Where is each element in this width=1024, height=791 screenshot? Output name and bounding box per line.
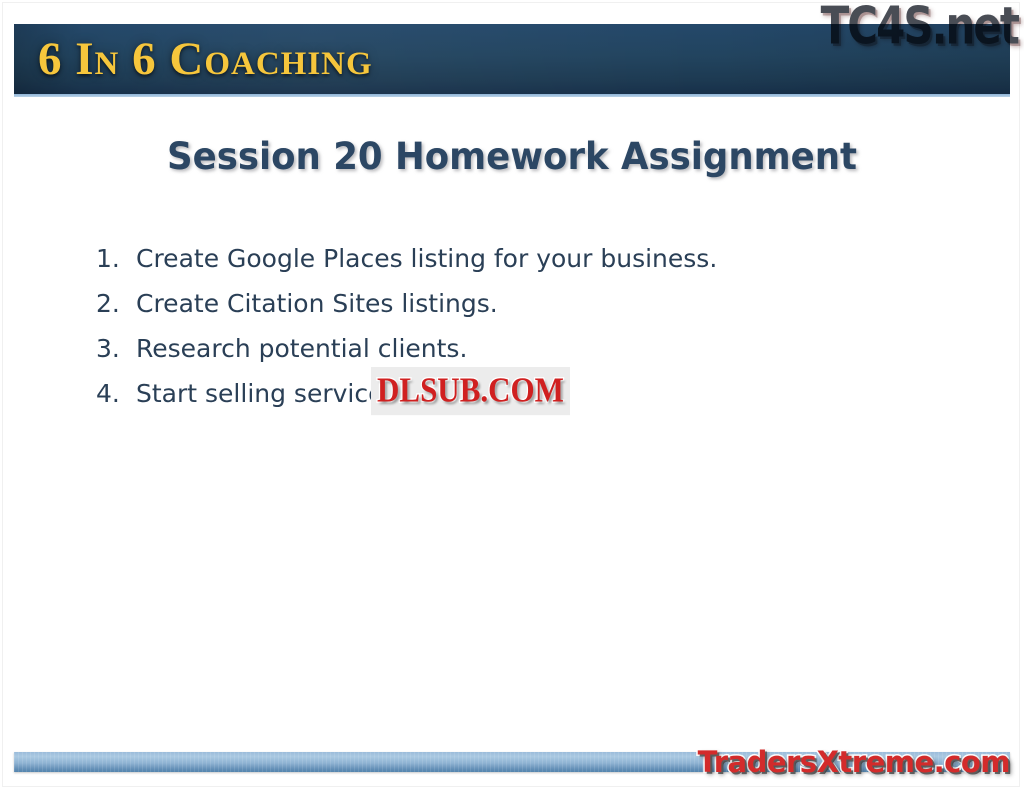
tc4s-watermark: TC4S.net — [821, 0, 1018, 56]
presentation-slide: 6 In 6 Coaching TC4S.net Session 20 Home… — [0, 0, 1024, 791]
list-item: 3. Research potential clients. — [96, 326, 916, 371]
tradersxtreme-logo: TradersXtreme.com — [698, 744, 1010, 780]
list-item: 1. Create Google Places listing for your… — [96, 236, 916, 281]
list-item: 2. Create Citation Sites listings. — [96, 281, 916, 326]
list-item-number: 4. — [96, 371, 136, 416]
list-item-number: 2. — [96, 281, 136, 326]
list-item-text: Start selling services. — [136, 371, 404, 416]
list-item-text: Research potential clients. — [136, 326, 467, 371]
list-item-text: Create Google Places listing for your bu… — [136, 236, 717, 281]
dlsub-watermark: DLSUB.COM — [371, 367, 570, 415]
slide-title: Session 20 Homework Assignment — [20, 135, 1003, 178]
list-item-number: 1. — [96, 236, 136, 281]
list-item-text: Create Citation Sites listings. — [136, 281, 498, 326]
list-item-number: 3. — [96, 326, 136, 371]
brand-title: 6 In 6 Coaching — [38, 26, 373, 92]
